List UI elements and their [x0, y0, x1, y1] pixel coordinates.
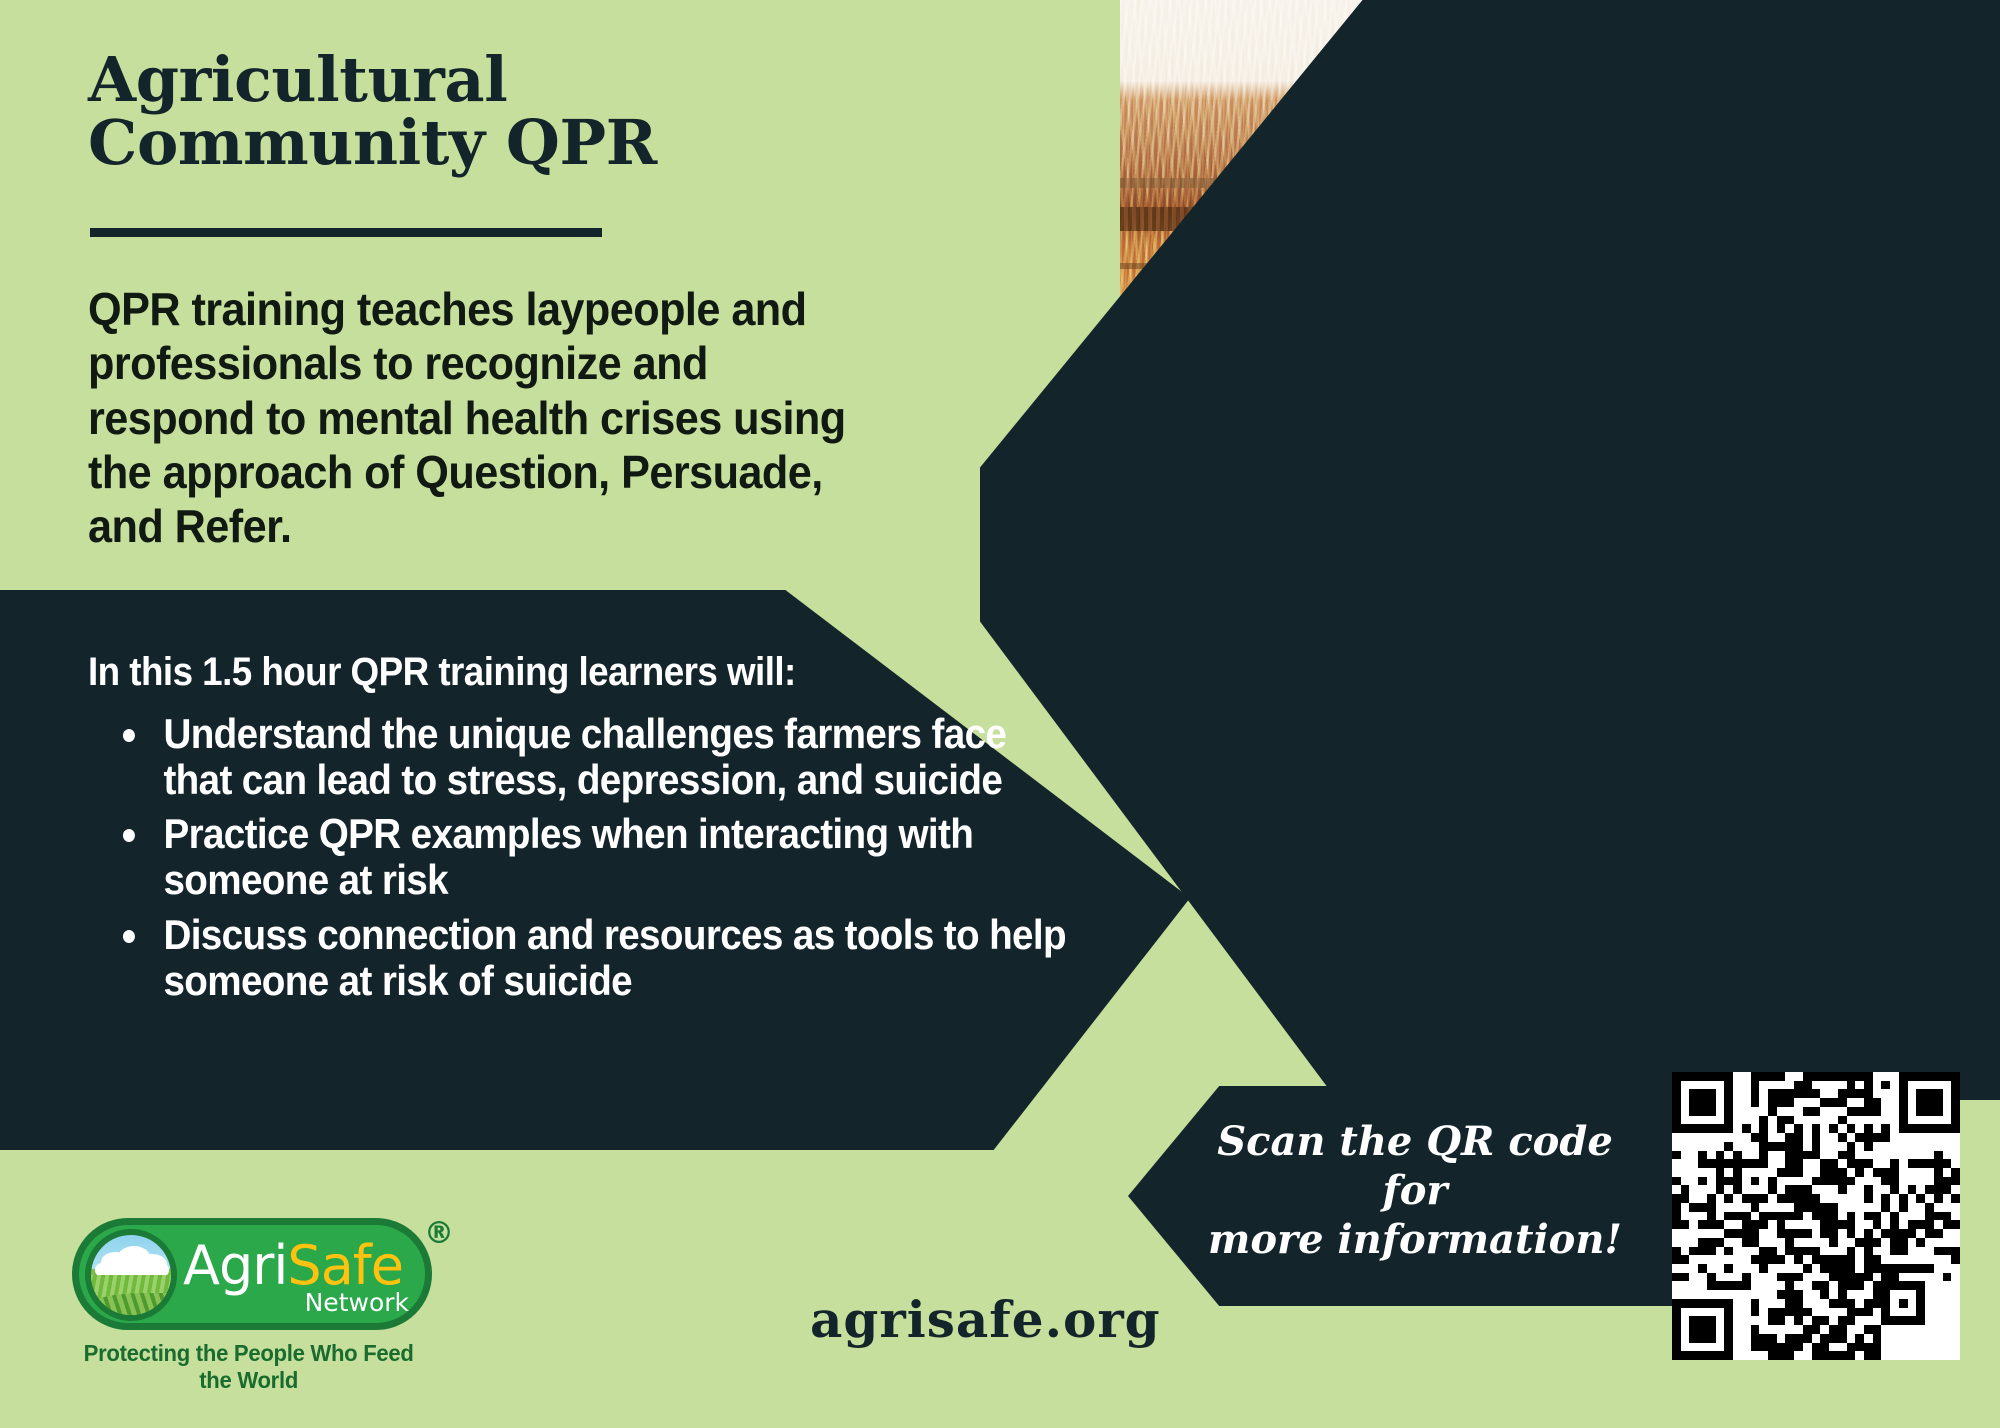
objectives-lead: In this 1.5 hour QPR training learners w… — [88, 650, 990, 695]
objectives-list: Understand the unique challenges farmers… — [88, 711, 1068, 1004]
list-item: Practice QPR examples when interacting w… — [88, 811, 1083, 903]
field-furrows — [85, 1293, 177, 1321]
scan-instruction: Scan the QR code for more information! — [1180, 1118, 1650, 1264]
logo-pill: AgriSafe Network — [72, 1218, 432, 1330]
logo-word-agri: Agri — [183, 1234, 287, 1297]
scan-instruction-line-2: more information! — [1180, 1216, 1650, 1265]
agrisafe-logo: AgriSafe Network ® Protecting the People… — [72, 1218, 452, 1394]
list-item-label: Discuss connection and resources as tool… — [163, 911, 1065, 1004]
qr-code[interactable] — [1672, 1072, 1960, 1360]
list-item-label: Practice QPR examples when interacting w… — [163, 810, 973, 903]
bullet-dot-icon — [123, 829, 135, 842]
list-item: Understand the unique challenges farmers… — [88, 711, 1083, 803]
website-url[interactable]: agrisafe.org — [810, 1290, 1161, 1349]
bullet-dot-icon — [123, 729, 135, 742]
list-item-label: Understand the unique challenges farmers… — [163, 710, 1006, 803]
objectives-content: In this 1.5 hour QPR training learners w… — [88, 650, 1068, 1012]
intro-paragraph: QPR training teaches laypeople and profe… — [88, 282, 859, 553]
page-title-line-2: Community QPR — [88, 111, 808, 174]
poster-canvas: Agricultural Community QPR QPR training … — [0, 0, 2000, 1428]
farm-landscape-icon — [85, 1229, 177, 1321]
registered-trademark-icon: ® — [424, 1216, 454, 1251]
logo-network-label: Network — [305, 1290, 409, 1315]
page-title-line-1: Agricultural — [88, 48, 808, 111]
title-underline-rule — [90, 228, 602, 237]
logo-wordmark: AgriSafe — [183, 1239, 403, 1293]
bullet-dot-icon — [123, 930, 135, 943]
page-title: Agricultural Community QPR — [88, 48, 808, 174]
scan-instruction-line-1: Scan the QR code for — [1180, 1118, 1650, 1216]
list-item: Discuss connection and resources as tool… — [88, 912, 1083, 1004]
logo-tagline: Protecting the People Who Feed the World — [72, 1340, 425, 1394]
